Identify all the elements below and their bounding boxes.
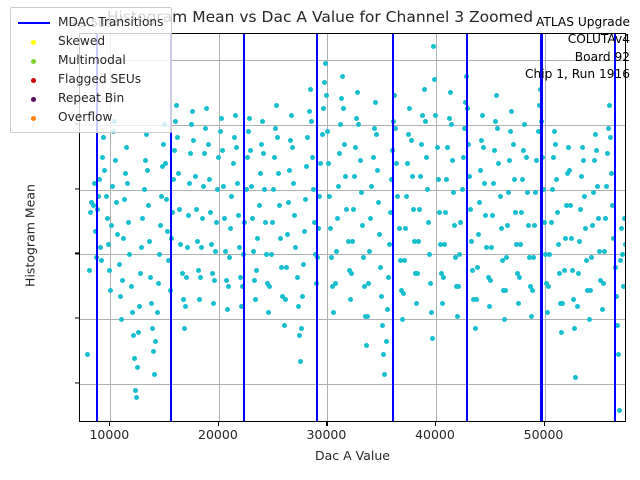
scatter-point bbox=[436, 177, 441, 182]
scatter-point bbox=[183, 304, 188, 309]
scatter-point bbox=[573, 375, 578, 380]
scatter-point bbox=[499, 226, 504, 231]
scatter-point bbox=[334, 249, 339, 254]
scatter-point bbox=[430, 336, 435, 341]
scatter-point bbox=[552, 129, 557, 134]
scatter-point bbox=[617, 408, 622, 413]
scatter-point bbox=[559, 330, 564, 335]
scatter-point bbox=[344, 207, 349, 212]
y-tick-mark bbox=[75, 188, 79, 189]
scatter-point bbox=[257, 203, 262, 208]
scatter-point bbox=[616, 352, 621, 357]
scatter-point bbox=[578, 207, 583, 212]
scatter-point bbox=[98, 245, 103, 250]
scatter-point bbox=[351, 207, 356, 212]
scatter-point bbox=[377, 232, 382, 237]
scatter-point bbox=[274, 103, 279, 108]
scatter-point bbox=[155, 310, 160, 315]
scatter-point bbox=[189, 122, 194, 127]
scatter-point bbox=[266, 310, 271, 315]
scatter-point bbox=[420, 113, 425, 118]
scatter-point bbox=[198, 275, 203, 280]
scatter-point bbox=[350, 239, 355, 244]
scatter-point bbox=[457, 252, 462, 257]
scatter-point bbox=[214, 220, 219, 225]
scatter-point bbox=[127, 252, 132, 257]
scatter-point bbox=[153, 339, 158, 344]
scatter-point bbox=[343, 174, 348, 179]
scatter-point bbox=[556, 242, 561, 247]
legend-item-label: Skewed bbox=[58, 35, 105, 47]
scatter-point bbox=[479, 138, 484, 143]
scatter-point bbox=[622, 216, 626, 221]
y-tick-mark bbox=[75, 318, 79, 319]
scatter-point bbox=[508, 129, 513, 134]
scatter-point bbox=[379, 294, 384, 299]
scatter-point bbox=[440, 301, 445, 306]
scatter-point bbox=[458, 220, 463, 225]
scatter-point bbox=[115, 232, 120, 237]
scatter-point bbox=[374, 132, 379, 137]
scatter-point bbox=[106, 242, 111, 247]
scatter-point bbox=[356, 122, 361, 127]
scatter-point bbox=[519, 210, 524, 215]
scatter-point bbox=[229, 194, 234, 199]
scatter-point bbox=[550, 187, 555, 192]
scatter-point bbox=[87, 268, 92, 273]
scatter-point bbox=[267, 284, 272, 289]
annotation-line: Chip 1, Run 1916 bbox=[525, 66, 630, 83]
scatter-point bbox=[285, 232, 290, 237]
legend-marker-swatch bbox=[17, 54, 51, 68]
scatter-point bbox=[200, 216, 205, 221]
scatter-point bbox=[226, 284, 231, 289]
legend-item[interactable]: MDAC Transitions bbox=[17, 13, 163, 32]
scatter-point bbox=[371, 155, 376, 160]
scatter-point bbox=[220, 148, 225, 153]
scatter-point bbox=[340, 74, 345, 79]
scatter-point bbox=[291, 181, 296, 186]
scatter-point bbox=[254, 268, 259, 273]
scatter-point bbox=[299, 326, 304, 331]
scatter-point bbox=[339, 96, 344, 101]
scatter-point bbox=[275, 135, 280, 140]
scatter-point bbox=[547, 252, 552, 257]
scatter-point bbox=[475, 265, 480, 270]
scatter-point bbox=[302, 229, 307, 234]
gridline-vertical bbox=[545, 34, 546, 421]
scatter-point bbox=[600, 307, 605, 312]
scatter-point bbox=[130, 310, 135, 315]
scatter-point bbox=[460, 187, 465, 192]
legend-item[interactable]: Flagged SEUs bbox=[17, 70, 163, 89]
scatter-point bbox=[117, 262, 122, 267]
scatter-point bbox=[206, 142, 211, 147]
scatter-point bbox=[122, 197, 127, 202]
scatter-point bbox=[473, 326, 478, 331]
legend[interactable]: MDAC TransitionsSkewedMultimodalFlagged … bbox=[10, 7, 172, 133]
legend-marker-swatch bbox=[17, 111, 51, 125]
scatter-point bbox=[181, 297, 186, 302]
scatter-point bbox=[186, 213, 191, 218]
x-tick-mark bbox=[326, 422, 327, 426]
y-tick-mark bbox=[75, 253, 79, 254]
x-tick-label: 10000 bbox=[49, 427, 169, 442]
scatter-point bbox=[102, 168, 107, 173]
scatter-point bbox=[323, 61, 328, 66]
scatter-point bbox=[261, 151, 266, 156]
scatter-point bbox=[194, 207, 199, 212]
scatter-point bbox=[249, 184, 254, 189]
scatter-point bbox=[455, 314, 460, 319]
scatter-point bbox=[262, 187, 267, 192]
scatter-point bbox=[309, 119, 314, 124]
scatter-point bbox=[209, 242, 214, 247]
scatter-point bbox=[322, 80, 327, 85]
scatter-point bbox=[569, 236, 574, 241]
scatter-point bbox=[196, 268, 201, 273]
legend-item[interactable]: Overflow bbox=[17, 108, 163, 127]
scatter-point bbox=[278, 236, 283, 241]
scatter-point bbox=[199, 245, 204, 250]
scatter-point bbox=[517, 275, 522, 280]
scatter-point bbox=[191, 138, 196, 143]
scatter-point bbox=[172, 148, 177, 153]
scatter-point bbox=[483, 213, 488, 218]
scatter-point bbox=[99, 258, 104, 263]
scatter-point bbox=[195, 239, 200, 244]
scatter-point bbox=[284, 265, 289, 270]
scatter-point bbox=[549, 220, 554, 225]
legend-item[interactable]: Multimodal bbox=[17, 51, 163, 70]
scatter-point bbox=[428, 281, 433, 286]
scatter-point bbox=[348, 297, 353, 302]
scatter-point bbox=[297, 333, 302, 338]
scatter-point bbox=[320, 132, 325, 137]
x-tick-label: 20000 bbox=[158, 427, 278, 442]
scatter-point bbox=[557, 271, 562, 276]
scatter-point bbox=[118, 294, 123, 299]
scatter-point bbox=[185, 245, 190, 250]
scatter-point bbox=[404, 194, 409, 199]
scatter-point bbox=[480, 113, 485, 118]
scatter-point bbox=[419, 142, 424, 147]
scatter-point bbox=[138, 271, 143, 276]
scatter-point bbox=[441, 275, 446, 280]
scatter-point bbox=[506, 190, 511, 195]
legend-item-label: Overflow bbox=[58, 111, 112, 123]
annotation-line: COLUTAv4 bbox=[525, 31, 630, 48]
scatter-point bbox=[570, 268, 575, 273]
scatter-point bbox=[488, 278, 493, 283]
scatter-point bbox=[328, 226, 333, 231]
scatter-point bbox=[553, 142, 558, 147]
scatter-point bbox=[201, 184, 206, 189]
x-tick-label: 40000 bbox=[375, 427, 495, 442]
scatter-point bbox=[342, 142, 347, 147]
mdac-transition-line bbox=[316, 34, 318, 421]
scatter-point bbox=[156, 281, 161, 286]
scatter-point bbox=[601, 281, 606, 286]
scatter-point bbox=[378, 265, 383, 270]
scatter-point bbox=[509, 109, 514, 114]
scatter-point bbox=[132, 356, 137, 361]
scatter-point bbox=[386, 275, 391, 280]
scatter-point bbox=[331, 310, 336, 315]
scatter-point bbox=[603, 216, 608, 221]
scatter-point bbox=[608, 135, 613, 140]
scatter-point bbox=[433, 113, 438, 118]
scatter-point bbox=[151, 349, 156, 354]
scatter-point bbox=[373, 100, 378, 105]
scatter-point bbox=[260, 119, 265, 124]
scatter-point bbox=[301, 262, 306, 267]
scatter-point bbox=[367, 249, 372, 254]
scatter-point bbox=[225, 307, 230, 312]
scatter-point bbox=[445, 145, 450, 150]
scatter-point bbox=[212, 278, 217, 283]
scatter-point bbox=[568, 203, 573, 208]
scatter-point bbox=[571, 297, 576, 302]
scatter-point bbox=[245, 155, 250, 160]
scatter-point bbox=[271, 187, 276, 192]
x-tick-mark bbox=[544, 422, 545, 426]
scatter-point bbox=[251, 249, 256, 254]
scatter-point bbox=[107, 268, 112, 273]
scatter-point bbox=[502, 317, 507, 322]
scatter-point bbox=[269, 252, 274, 257]
scatter-point bbox=[618, 258, 623, 263]
scatter-point bbox=[382, 372, 387, 377]
scatter-point bbox=[376, 200, 381, 205]
scatter-point bbox=[119, 317, 124, 322]
scatter-point bbox=[407, 106, 412, 111]
scatter-point bbox=[105, 216, 110, 221]
scatter-point bbox=[204, 106, 209, 111]
scatter-point bbox=[187, 181, 192, 186]
y-tick-mark bbox=[75, 383, 79, 384]
scatter-point bbox=[100, 155, 105, 160]
scatter-point bbox=[375, 168, 380, 173]
legend-item[interactable]: Skewed bbox=[17, 32, 163, 51]
scatter-point bbox=[366, 281, 371, 286]
scatter-point bbox=[277, 203, 282, 208]
scatter-point bbox=[236, 213, 241, 218]
scatter-point bbox=[507, 158, 512, 163]
scatter-point bbox=[477, 200, 482, 205]
scatter-point bbox=[120, 278, 125, 283]
scatter-point bbox=[349, 271, 354, 276]
scatter-point bbox=[401, 291, 406, 296]
scatter-point bbox=[447, 116, 452, 121]
scatter-point bbox=[292, 213, 297, 218]
figure-canvas: Histogram Mean vs Dac A Value for Channe… bbox=[0, 0, 640, 480]
scatter-point bbox=[449, 122, 454, 127]
scatter-point bbox=[221, 184, 226, 189]
scatter-point bbox=[124, 145, 129, 150]
scatter-point bbox=[393, 126, 398, 131]
scatter-point bbox=[173, 119, 178, 124]
scatter-point bbox=[290, 145, 295, 150]
scatter-point bbox=[175, 135, 180, 140]
scatter-point bbox=[494, 93, 499, 98]
scatter-point bbox=[303, 197, 308, 202]
scatter-point bbox=[149, 301, 154, 306]
scatter-point bbox=[159, 194, 164, 199]
scatter-point bbox=[442, 242, 447, 247]
scatter-point bbox=[580, 145, 585, 150]
scatter-point bbox=[110, 184, 115, 189]
scatter-point bbox=[152, 372, 157, 377]
x-tick-mark bbox=[109, 422, 110, 426]
scatter-point bbox=[352, 174, 357, 179]
scatter-point bbox=[589, 255, 594, 260]
mdac-transition-line bbox=[392, 34, 394, 421]
scatter-point bbox=[104, 194, 109, 199]
scatter-point bbox=[329, 255, 334, 260]
scatter-point bbox=[592, 158, 597, 163]
scatter-point bbox=[525, 190, 530, 195]
scatter-point bbox=[190, 109, 195, 114]
mdac-transition-line bbox=[614, 34, 616, 421]
scatter-point bbox=[524, 155, 529, 160]
legend-marker-swatch bbox=[17, 73, 51, 87]
scatter-point bbox=[250, 216, 255, 221]
scatter-point bbox=[336, 184, 341, 189]
scatter-point bbox=[133, 388, 138, 393]
scatter-point bbox=[231, 161, 236, 166]
scatter-point bbox=[563, 236, 568, 241]
scatter-point bbox=[395, 194, 400, 199]
scatter-point bbox=[416, 239, 421, 244]
scatter-point bbox=[222, 216, 227, 221]
scatter-point bbox=[289, 113, 294, 118]
scatter-point bbox=[311, 187, 316, 192]
scatter-point bbox=[361, 255, 366, 260]
scatter-point bbox=[202, 151, 207, 156]
scatter-point bbox=[321, 106, 326, 111]
scatter-point bbox=[518, 242, 523, 247]
scatter-point bbox=[129, 284, 134, 289]
scatter-point bbox=[126, 220, 131, 225]
scatter-point bbox=[295, 275, 300, 280]
scatter-point bbox=[562, 268, 567, 273]
scatter-point bbox=[176, 171, 181, 176]
legend-item[interactable]: Repeat Bin bbox=[17, 89, 163, 108]
scatter-point bbox=[409, 138, 414, 143]
scatter-point bbox=[579, 174, 584, 179]
scatter-point bbox=[493, 119, 498, 124]
scatter-point bbox=[572, 326, 577, 331]
scatter-point bbox=[109, 223, 114, 228]
scatter-point bbox=[259, 142, 264, 147]
gridline-vertical bbox=[436, 34, 437, 421]
scatter-point bbox=[400, 317, 405, 322]
x-tick-label: 30000 bbox=[266, 427, 386, 442]
scatter-point bbox=[213, 249, 218, 254]
legend-item-label: Flagged SEUs bbox=[58, 73, 141, 85]
scatter-point bbox=[424, 155, 429, 160]
scatter-point bbox=[481, 145, 486, 150]
scatter-point bbox=[146, 203, 151, 208]
scatter-point bbox=[355, 90, 360, 95]
scatter-point bbox=[163, 161, 168, 166]
scatter-point bbox=[131, 333, 136, 338]
scatter-point bbox=[584, 258, 589, 263]
legend-item-label: MDAC Transitions bbox=[58, 16, 163, 28]
scatter-point bbox=[333, 281, 338, 286]
legend-marker-swatch bbox=[17, 35, 51, 49]
scatter-point bbox=[145, 168, 150, 173]
scatter-point bbox=[403, 226, 408, 231]
scatter-point bbox=[233, 113, 238, 118]
scatter-point bbox=[385, 307, 390, 312]
scatter-point bbox=[123, 171, 128, 176]
scatter-point bbox=[620, 252, 625, 257]
scatter-point bbox=[422, 87, 427, 92]
scatter-point bbox=[304, 164, 309, 169]
scatter-point bbox=[137, 304, 142, 309]
scatter-point bbox=[605, 151, 610, 156]
annotation-line: Board 92 bbox=[525, 49, 630, 66]
scatter-point bbox=[85, 352, 90, 357]
scatter-point bbox=[397, 226, 402, 231]
scatter-point bbox=[327, 194, 332, 199]
scatter-point bbox=[296, 304, 301, 309]
scatter-point bbox=[492, 148, 497, 153]
mdac-transition-line bbox=[466, 34, 468, 421]
scatter-point bbox=[429, 310, 434, 315]
scatter-point bbox=[337, 151, 342, 156]
scatter-point bbox=[227, 255, 232, 260]
scatter-point bbox=[207, 177, 212, 182]
scatter-point bbox=[308, 87, 313, 92]
scatter-point bbox=[498, 194, 503, 199]
scatter-point bbox=[591, 190, 596, 195]
scatter-point bbox=[218, 129, 223, 134]
scatter-point bbox=[158, 223, 163, 228]
scatter-point bbox=[197, 297, 202, 302]
scatter-point bbox=[415, 271, 420, 276]
gridline-vertical bbox=[219, 34, 220, 421]
scatter-point bbox=[358, 158, 363, 163]
scatter-point bbox=[114, 200, 119, 205]
scatter-point bbox=[365, 314, 370, 319]
scatter-point bbox=[113, 158, 118, 163]
scatter-point bbox=[228, 226, 233, 231]
scatter-point bbox=[566, 145, 571, 150]
scatter-point bbox=[108, 288, 113, 293]
scatter-point bbox=[425, 187, 430, 192]
scatter-point bbox=[253, 297, 258, 302]
scatter-point bbox=[551, 155, 556, 160]
scatter-point bbox=[491, 181, 496, 186]
x-tick-label: 50000 bbox=[484, 427, 604, 442]
scatter-point bbox=[258, 171, 263, 176]
scatter-point bbox=[583, 226, 588, 231]
scatter-point bbox=[125, 181, 130, 186]
scatter-point bbox=[505, 223, 510, 228]
scatter-point bbox=[394, 161, 399, 166]
scatter-point bbox=[282, 323, 287, 328]
scatter-point bbox=[576, 271, 581, 276]
scatter-point bbox=[140, 216, 145, 221]
scatter-point bbox=[606, 126, 611, 131]
scatter-point bbox=[354, 116, 359, 121]
scatter-point bbox=[607, 103, 612, 108]
scatter-point bbox=[418, 174, 423, 179]
x-tick-mark bbox=[218, 422, 219, 426]
